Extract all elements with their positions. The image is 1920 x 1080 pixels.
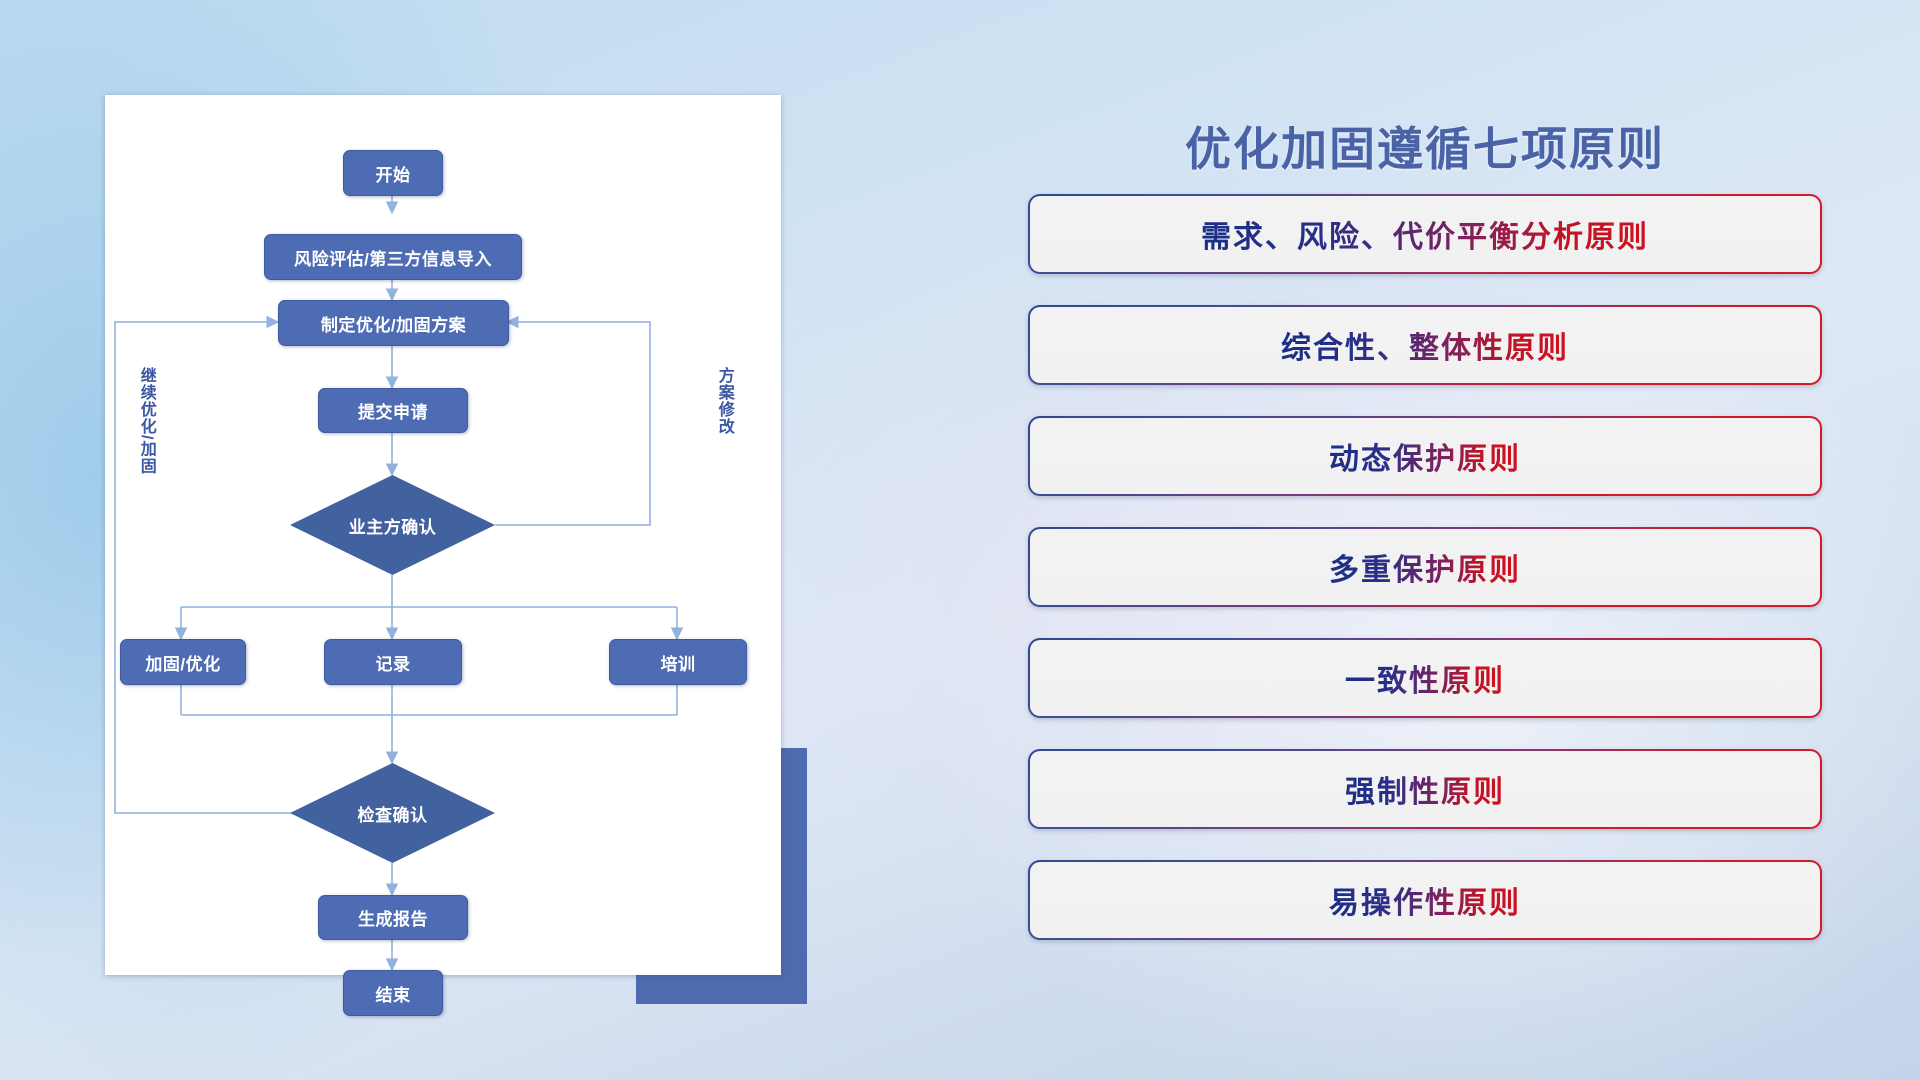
flow-node-end[interactable]: 结束 [343, 970, 443, 1016]
principle-card-7[interactable]: 易操作性原则 [1028, 860, 1822, 940]
principle-card-4-label: 多重保护原则 [1329, 545, 1521, 589]
flow-node-risk-assessment[interactable]: 风险评估/第三方信息导入 [264, 234, 522, 280]
principle-card-5[interactable]: 一致性原则 [1028, 638, 1822, 718]
principle-card-4[interactable]: 多重保护原则 [1028, 527, 1822, 607]
flow-edge-label-plan-revision: 方案修改 [715, 367, 732, 435]
flowchart-panel: 开始 风险评估/第三方信息导入 制定优化/加固方案 提交申请 业主方确认 加固/… [105, 95, 781, 975]
flow-edge-label-continue-optimize: 继续优化/加固 [137, 367, 154, 474]
flow-node-start[interactable]: 开始 [343, 150, 443, 196]
flow-node-check-confirm[interactable]: 检查确认 [290, 763, 495, 863]
flow-node-owner-confirm[interactable]: 业主方确认 [290, 475, 495, 575]
flow-node-owner-confirm-label: 业主方确认 [349, 513, 437, 538]
flow-node-generate-report[interactable]: 生成报告 [318, 895, 468, 940]
principle-card-6[interactable]: 强制性原则 [1028, 749, 1822, 829]
principle-card-3-label: 动态保护原则 [1329, 434, 1521, 478]
principle-card-3[interactable]: 动态保护原则 [1028, 416, 1822, 496]
principle-card-2[interactable]: 综合性、整体性原则 [1028, 305, 1822, 385]
principle-card-6-label: 强制性原则 [1345, 767, 1505, 811]
flow-node-plan[interactable]: 制定优化/加固方案 [278, 300, 509, 346]
flow-node-submit-application[interactable]: 提交申请 [318, 388, 468, 433]
principle-card-1[interactable]: 需求、风险、代价平衡分析原则 [1028, 194, 1822, 274]
principle-card-7-label: 易操作性原则 [1329, 878, 1521, 922]
principles-title: 优化加固遵循七项原则 [1020, 113, 1830, 179]
principle-card-1-label: 需求、风险、代价平衡分析原则 [1201, 212, 1649, 256]
flow-node-record[interactable]: 记录 [324, 639, 462, 685]
flow-node-training[interactable]: 培训 [609, 639, 747, 685]
principles-panel: 优化加固遵循七项原则 需求、风险、代价平衡分析原则 综合性、整体性原则 动态保护… [1020, 95, 1830, 995]
flow-node-check-confirm-label: 检查确认 [358, 801, 428, 826]
principle-card-2-label: 综合性、整体性原则 [1281, 323, 1569, 367]
flow-node-reinforce[interactable]: 加固/优化 [120, 639, 246, 685]
principle-card-5-label: 一致性原则 [1345, 656, 1505, 700]
